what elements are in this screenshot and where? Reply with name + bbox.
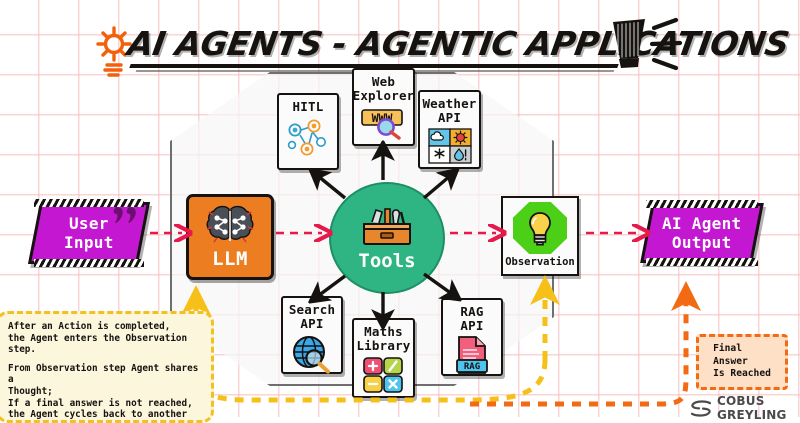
feedback-loop-yellow [196, 290, 545, 400]
watermark-text: COBUS GREYLING [717, 394, 800, 422]
final-answer-callout: Final Answer Is Reached [696, 334, 788, 390]
final-answer-text: Final Answer Is Reached [713, 343, 771, 380]
diagram-canvas: AI AGENTS - AGENTIC APPLICATIONS HITL [0, 0, 800, 417]
watermark: COBUS GREYLING [690, 394, 800, 422]
cobus-greyling-logo-icon [690, 400, 712, 417]
observation-note: After an Action is completed, the Agent … [0, 311, 214, 423]
note-paragraph-2: From Observation step Agent shares a Tho… [8, 363, 203, 423]
note-paragraph-1: After an Action is completed, the Agent … [8, 321, 203, 356]
tool-arrow-set [318, 152, 452, 318]
final-answer-path-orange [470, 296, 686, 404]
